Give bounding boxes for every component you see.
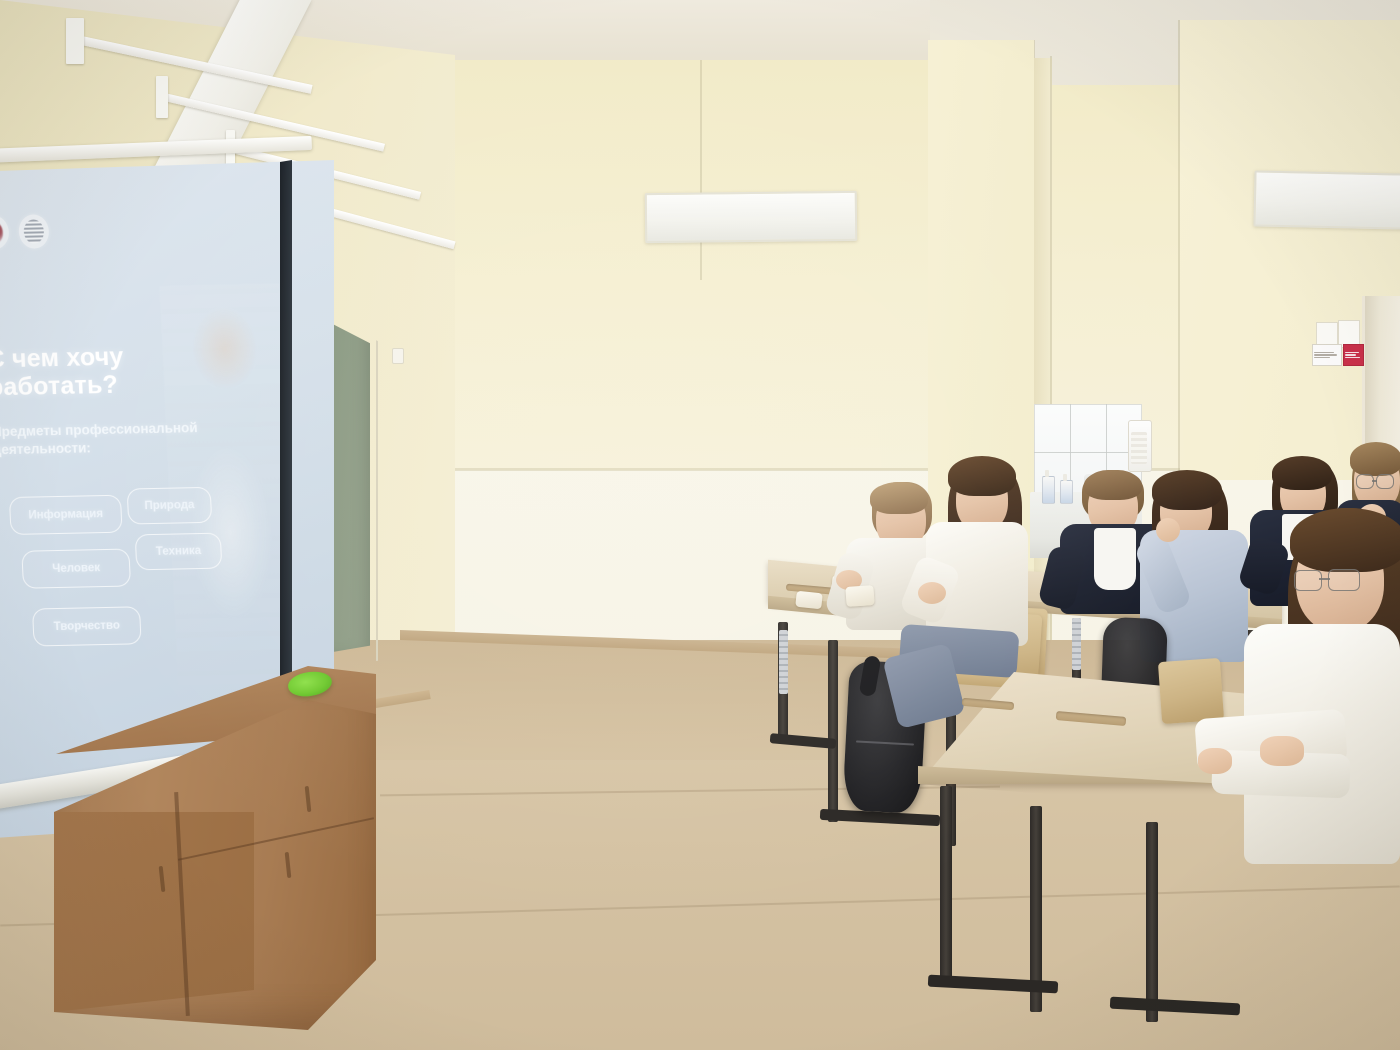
safety-sign-text-panel [1312, 344, 1342, 366]
soap-pump-icon [1063, 474, 1067, 481]
coat-of-arms-emblem-icon [0, 215, 10, 250]
desk-leg [940, 786, 952, 986]
eyeglasses-icon [1294, 570, 1372, 590]
slide-pill: Творчество [32, 606, 142, 646]
slide-subtitle: Предметы профессиональной деятельности: [0, 418, 241, 460]
hair [1272, 456, 1332, 490]
wall-corner-seam [700, 60, 702, 280]
hair [870, 482, 928, 514]
hand [1156, 518, 1180, 542]
eraser[interactable] [845, 585, 874, 607]
eyeglasses-icon [1356, 474, 1398, 488]
soap-dispenser[interactable] [1042, 476, 1055, 504]
slide-pill: Природа [127, 487, 213, 525]
slide-pill: Человек [21, 549, 131, 589]
blank-white-wall-panel [1253, 170, 1400, 229]
ceiling-bracket-plate-2 [156, 76, 168, 118]
safety-sign-red-panel [1343, 344, 1364, 366]
wall-corner-seam [1178, 20, 1180, 490]
slide-pill: Информация [9, 495, 123, 535]
hand [1260, 736, 1304, 766]
blank-white-wall-panel [645, 191, 858, 243]
tile-seam [1034, 452, 1142, 453]
classroom-photo: С чем хочу работать? Предметы профессион… [0, 0, 1400, 1050]
desk-height-adjuster [1072, 618, 1081, 670]
safety-notice-sign [1312, 344, 1364, 366]
paper-towel-roll [1131, 432, 1147, 464]
hand [1198, 748, 1232, 774]
hair [1152, 470, 1222, 510]
chair-backrest[interactable] [1158, 658, 1224, 724]
desk-leg [1146, 822, 1158, 1022]
slide-pill: Техника [135, 533, 223, 571]
hand [918, 582, 946, 604]
slide-logos [0, 214, 50, 249]
eraser[interactable] [795, 591, 823, 610]
soap-pump-icon [1045, 470, 1049, 477]
desk-height-adjuster [779, 630, 788, 694]
shirt-collar [1094, 528, 1136, 590]
hair [1290, 508, 1400, 572]
light-switch[interactable] [392, 348, 404, 364]
slide-title: С чем хочу работать? [0, 340, 257, 402]
hair [1084, 470, 1142, 500]
circular-ribbon-emblem-icon [18, 214, 50, 249]
soap-dispenser[interactable] [1060, 480, 1073, 504]
hair [948, 456, 1016, 496]
desk-leg [828, 640, 838, 822]
ceiling-bracket-plate-1 [66, 18, 84, 64]
hair [1350, 442, 1400, 476]
